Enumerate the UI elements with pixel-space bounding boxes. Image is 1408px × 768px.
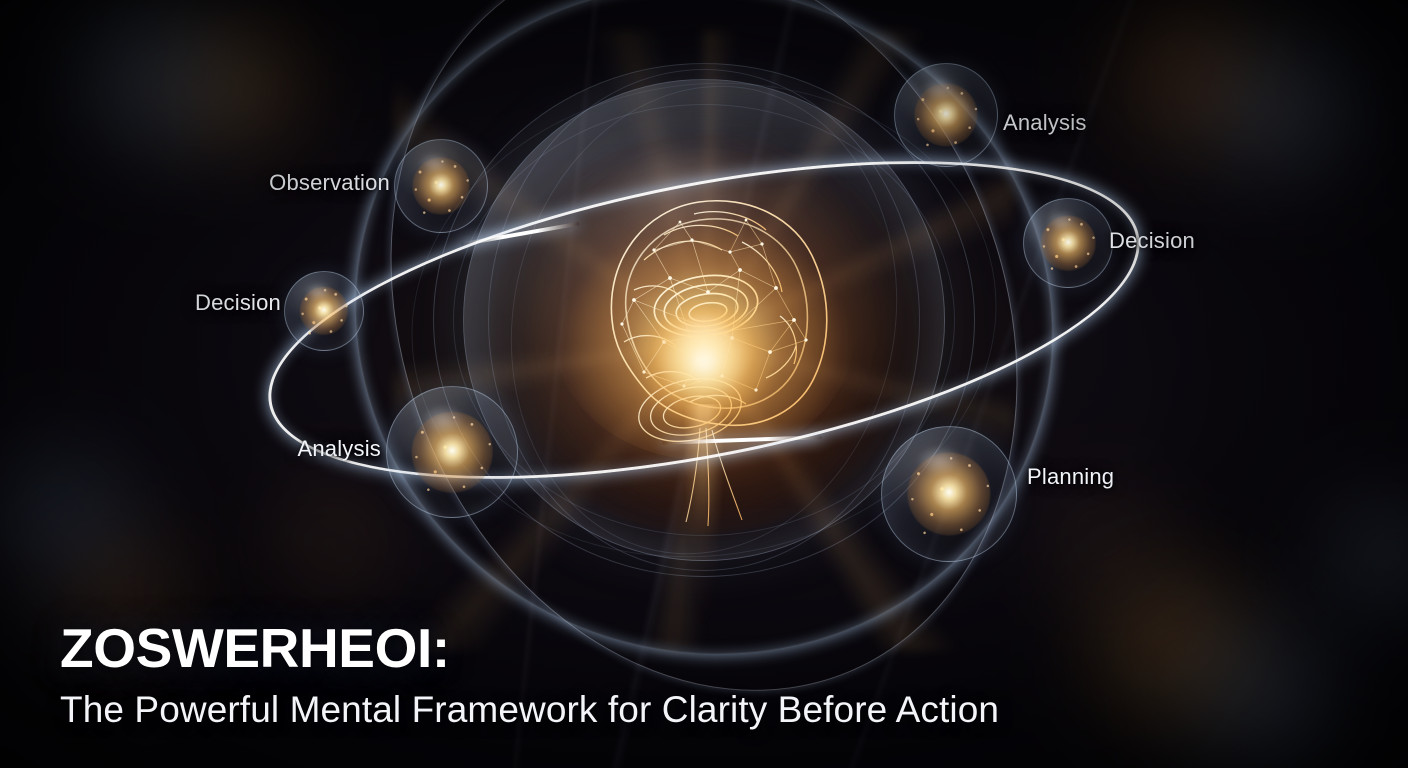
node-highlight bbox=[419, 153, 450, 173]
node-label-analysis-top: Analysis bbox=[1003, 110, 1087, 136]
node-label-decision-left: Decision bbox=[195, 290, 281, 316]
page-title: ZOSWERHEOI: bbox=[60, 620, 999, 678]
node-label-analysis-bottom: Analysis bbox=[297, 436, 381, 462]
illustration-canvas: ObservationAnalysisDecisionDecisionAnaly… bbox=[0, 0, 1408, 768]
node-sphere-decision-right[interactable] bbox=[1023, 198, 1113, 288]
node-label-decision-right: Decision bbox=[1109, 228, 1195, 254]
node-sphere-observation[interactable] bbox=[394, 139, 488, 233]
node-highlight bbox=[922, 78, 957, 100]
node-sphere-analysis-bottom[interactable] bbox=[386, 386, 518, 518]
node-sphere-planning[interactable] bbox=[881, 426, 1017, 562]
headline-block: ZOSWERHEOI: The Powerful Mental Framewor… bbox=[60, 620, 999, 732]
node-sphere-analysis-top[interactable] bbox=[894, 63, 998, 167]
page-subtitle: The Powerful Mental Framework for Clarit… bbox=[60, 689, 999, 732]
node-label-planning: Planning bbox=[1027, 464, 1114, 490]
node-label-observation: Observation bbox=[269, 170, 390, 196]
node-highlight bbox=[421, 405, 465, 434]
node-highlight bbox=[305, 283, 332, 300]
node-sphere-decision-left[interactable] bbox=[284, 271, 364, 351]
node-highlight bbox=[1047, 211, 1077, 230]
